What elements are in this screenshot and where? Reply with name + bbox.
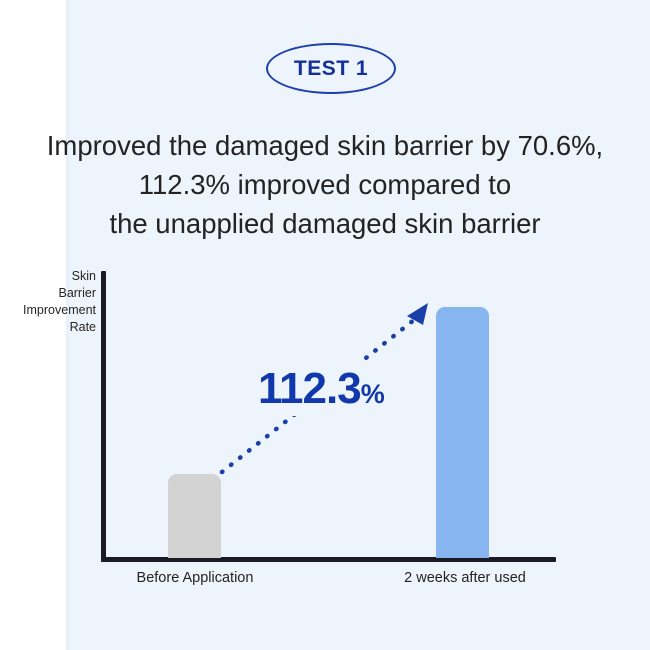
y-axis-line xyxy=(101,271,106,562)
y-axis-label-line-4: Rate xyxy=(0,319,96,336)
y-axis-label-line-3: Improvement xyxy=(0,302,96,319)
y-axis-label-line-1: Skin xyxy=(0,268,96,285)
x-tick-label-before: Before Application xyxy=(100,570,290,586)
bar-chart: Skin Barrier Improvement Rate 112.3% Bef… xyxy=(0,0,650,650)
bar-before-application xyxy=(168,474,221,558)
y-axis-label-line-2: Barrier xyxy=(0,285,96,302)
growth-arrow xyxy=(0,0,650,650)
improvement-unit: % xyxy=(361,379,385,409)
bar-two-weeks-after-used xyxy=(436,307,489,558)
y-axis-label: Skin Barrier Improvement Rate xyxy=(0,268,96,336)
infographic-panel: TEST 1 Improved the damaged skin barrier… xyxy=(0,0,650,650)
improvement-value: 112.3 xyxy=(258,364,361,413)
improvement-annotation: 112.3% xyxy=(258,367,385,411)
x-tick-label-after: 2 weeks after used xyxy=(370,570,560,586)
